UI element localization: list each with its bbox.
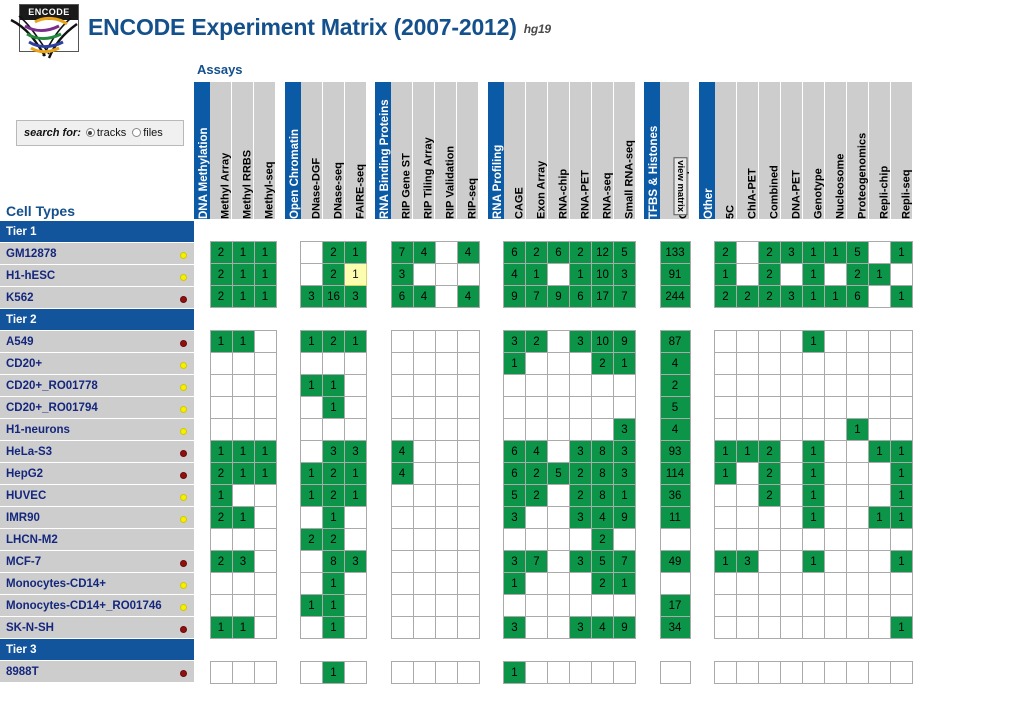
matrix-cell-filled[interactable]: 244 (660, 286, 690, 308)
matrix-cell-empty (413, 331, 435, 353)
matrix-cell-empty (254, 353, 276, 375)
matrix-cell-filled[interactable]: 91 (660, 264, 690, 286)
matrix-cell-filled[interactable]: 1 (254, 441, 276, 463)
matrix-cell-filled[interactable]: 8 (592, 441, 614, 463)
matrix-cell-filled[interactable]: 1 (803, 551, 825, 573)
matrix-cell-filled[interactable]: 1 (345, 242, 367, 264)
matrix-cell-filled[interactable]: 6 (847, 286, 869, 308)
matrix-cell-filled[interactable]: 4 (391, 441, 413, 463)
matrix-cell-filled[interactable]: 3 (614, 419, 636, 441)
matrix-cell-filled[interactable]: 3 (323, 441, 345, 463)
matrix-cell-filled[interactable]: 1 (254, 264, 276, 286)
column-group-header[interactable]: RNA Binding Proteins (375, 82, 391, 219)
matrix-cell-filled[interactable]: 93 (660, 441, 690, 463)
matrix-cell-filled[interactable]: 2 (759, 264, 781, 286)
matrix-cell-filled[interactable]: 1 (254, 463, 276, 485)
matrix-cell-empty (825, 397, 847, 419)
matrix-cell-filled[interactable]: 6 (504, 441, 526, 463)
matrix-cell-filled[interactable]: 4 (504, 264, 526, 286)
matrix-cell-filled[interactable]: 2 (210, 463, 232, 485)
assay-column-header[interactable]: RIP Gene ST (391, 82, 413, 219)
matrix-data-row: 21112146252831141211 (194, 463, 913, 485)
matrix-group-gap-cell (488, 264, 504, 286)
matrix-cell-filled[interactable]: 10 (592, 331, 614, 353)
matrix-cell-filled[interactable]: 1 (891, 507, 913, 529)
view-matrix-button[interactable]: view matrix (674, 157, 688, 215)
matrix-cell-filled[interactable]: 2 (570, 242, 592, 264)
matrix-cell-empty (715, 529, 737, 551)
matrix-cell-empty (232, 529, 254, 551)
matrix-cell-filled[interactable]: 2 (570, 485, 592, 507)
matrix-group-gap-cell (699, 419, 715, 441)
matrix-header-row: DNA MethylationMethyl ArrayMethyl RRBSMe… (194, 82, 913, 219)
matrix-cell-empty (548, 397, 570, 419)
matrix-cell-filled[interactable]: 1 (301, 485, 323, 507)
matrix-cell-filled[interactable]: 7 (614, 551, 636, 573)
cell-type-row[interactable]: A549 (0, 331, 194, 353)
matrix-cell-filled[interactable]: 1 (715, 463, 737, 485)
matrix-cell-filled[interactable]: 2 (715, 242, 737, 264)
matrix-cell-filled[interactable]: 1 (869, 441, 891, 463)
matrix-group-spacer-cell (636, 419, 645, 441)
matrix-group-gap-cell (644, 662, 660, 684)
matrix-cell-filled[interactable]: 1 (232, 286, 254, 308)
matrix-cell-filled[interactable]: 9 (504, 286, 526, 308)
matrix-cell-filled[interactable]: 5 (504, 485, 526, 507)
matrix-cell-filled[interactable]: 5 (847, 242, 869, 264)
matrix-cell-empty (210, 419, 232, 441)
matrix-group-spacer-cell (367, 529, 376, 551)
matrix-cell-empty (457, 331, 479, 353)
cell-type-row[interactable]: 8988T (0, 661, 194, 683)
matrix-cell-filled[interactable]: 87 (660, 331, 690, 353)
matrix-cell-filled[interactable]: 2 (323, 529, 345, 551)
matrix-cell-filled[interactable]: 3 (301, 286, 323, 308)
matrix-cell-filled[interactable]: 7 (526, 286, 548, 308)
cell-type-row[interactable]: H1-hESC (0, 265, 194, 287)
matrix-cell-filled[interactable]: 2 (323, 331, 345, 353)
matrix-cell-empty (413, 419, 435, 441)
matrix-cell-filled[interactable]: 8 (592, 485, 614, 507)
matrix-cell-empty (737, 507, 759, 529)
matrix-cell-filled[interactable]: 2 (210, 286, 232, 308)
matrix-cell-filled[interactable]: 1 (345, 264, 367, 286)
matrix-cell-filled[interactable]: 1 (232, 264, 254, 286)
radio-option-tracks[interactable]: tracks (86, 127, 126, 139)
matrix-cell-filled[interactable]: 2 (592, 529, 614, 551)
matrix-cell-filled[interactable]: 5 (614, 242, 636, 264)
matrix-cell-filled[interactable]: 12 (592, 242, 614, 264)
matrix-cell-filled[interactable]: 1 (504, 662, 526, 684)
assay-column-header[interactable]: FAIRE-seq (345, 82, 367, 219)
assay-column-header[interactable]: Exon Array (526, 82, 548, 219)
matrix-cell-filled[interactable]: 1 (345, 485, 367, 507)
matrix-cell-filled[interactable]: 2 (526, 463, 548, 485)
matrix-cell-filled[interactable]: 1 (232, 331, 254, 353)
matrix-cell-filled[interactable]: 3 (570, 441, 592, 463)
matrix-cell-filled[interactable]: 4 (457, 286, 479, 308)
matrix-cell-filled[interactable]: 1 (891, 286, 913, 308)
assay-column-header[interactable]: DNA-PET (781, 82, 803, 219)
assay-column-header[interactable]: RIP Validation (435, 82, 457, 219)
matrix-group-spacer-cell (479, 617, 488, 639)
cell-type-row[interactable]: Monocytes-CD14+_RO01746 (0, 595, 194, 617)
matrix-cell-filled[interactable]: 1 (891, 617, 913, 639)
matrix-cell-filled[interactable]: 1 (614, 485, 636, 507)
matrix-cell-filled[interactable]: 2 (759, 441, 781, 463)
matrix-cell-filled[interactable]: 1 (232, 242, 254, 264)
matrix-cell-empty (391, 529, 413, 551)
matrix-cell-filled[interactable]: 1 (803, 242, 825, 264)
matrix-group-spacer-cell (479, 507, 488, 529)
matrix-cell-filled[interactable]: 1 (504, 353, 526, 375)
matrix-cell-filled[interactable]: 3 (504, 617, 526, 639)
matrix-cell-filled[interactable]: 1 (715, 441, 737, 463)
matrix-cell-filled[interactable]: 6 (570, 286, 592, 308)
matrix-cell-filled[interactable]: 10 (592, 264, 614, 286)
column-group-header[interactable]: DNA Methylation (194, 82, 210, 219)
matrix-cell-filled[interactable]: 4 (526, 441, 548, 463)
matrix-group-gap-cell (375, 286, 391, 308)
matrix-group-gap-cell (699, 264, 715, 286)
matrix-cell-filled[interactable]: 1 (614, 353, 636, 375)
matrix-cell-filled[interactable]: 3 (781, 286, 803, 308)
matrix-cell-filled[interactable]: 8 (592, 463, 614, 485)
matrix-cell-filled[interactable]: 133 (660, 242, 690, 264)
matrix-cell-filled[interactable]: 2 (323, 463, 345, 485)
matrix-cell-filled[interactable]: 1 (614, 573, 636, 595)
assay-column-header[interactable]: DNase-seq (323, 82, 345, 219)
assay-column-header[interactable]: Nucleosome (825, 82, 847, 219)
matrix-cell-filled[interactable]: 2 (323, 485, 345, 507)
matrix-cell-filled[interactable]: 5 (548, 463, 570, 485)
matrix-cell-filled[interactable]: 3 (232, 551, 254, 573)
matrix-cell-filled[interactable]: 16 (323, 286, 345, 308)
matrix-cell-filled[interactable]: 3 (614, 441, 636, 463)
matrix-cell-filled[interactable]: 3 (345, 551, 367, 573)
matrix-cell-filled[interactable]: 2 (526, 242, 548, 264)
assay-column-header[interactable]: ChIP-seqview matrix (660, 82, 690, 219)
matrix-cell-filled[interactable]: 2 (210, 264, 232, 286)
matrix-cell-filled[interactable]: 2 (759, 485, 781, 507)
matrix-cell-filled[interactable]: 2 (210, 242, 232, 264)
matrix-cell-filled[interactable]: 1 (803, 485, 825, 507)
matrix-cell-filled[interactable]: 2 (759, 286, 781, 308)
cell-type-row[interactable]: HepG2 (0, 463, 194, 485)
matrix-cell-filled[interactable]: 34 (660, 617, 690, 639)
matrix-group-spacer-cell (690, 595, 699, 617)
matrix-group-spacer-cell (367, 419, 376, 441)
matrix-cell-filled[interactable]: 3 (504, 331, 526, 353)
matrix-cell-filled[interactable]: 114 (660, 463, 690, 485)
matrix-cell-empty (781, 419, 803, 441)
assay-column-header[interactable]: Combined (759, 82, 781, 219)
matrix-cell-filled[interactable]: 1 (891, 441, 913, 463)
matrix-cell-filled[interactable]: 1 (891, 551, 913, 573)
matrix-cell-filled[interactable]: 5 (592, 551, 614, 573)
cell-type-row[interactable]: H1-neurons (0, 419, 194, 441)
matrix-cell-filled[interactable]: 2 (210, 507, 232, 529)
matrix-cell-filled[interactable]: 6 (391, 286, 413, 308)
matrix-cell-filled[interactable]: 1 (891, 242, 913, 264)
page-title-text: ENCODE Experiment Matrix (2007-2012) (88, 14, 517, 40)
matrix-cell-filled[interactable]: 2 (847, 264, 869, 286)
radio-tracks-icon[interactable] (86, 128, 95, 137)
assay-column-header[interactable]: RNA-PET (570, 82, 592, 219)
assay-column-header[interactable]: 5C (715, 82, 737, 219)
assay-column-header[interactable]: Small RNA-seq (614, 82, 636, 219)
matrix-cell-filled[interactable]: 2 (526, 331, 548, 353)
assay-column-header[interactable]: CAGE (504, 82, 526, 219)
cell-type-row[interactable]: CD20+ (0, 353, 194, 375)
matrix-group-spacer-cell (367, 397, 376, 419)
matrix-cell-filled[interactable]: 1 (323, 595, 345, 617)
matrix-cell-empty (781, 441, 803, 463)
matrix-cell-filled[interactable]: 2 (323, 242, 345, 264)
matrix-cell-filled[interactable]: 7 (614, 286, 636, 308)
matrix-cell-filled[interactable]: 2 (592, 353, 614, 375)
matrix-cell-filled[interactable]: 1 (254, 286, 276, 308)
cell-type-row[interactable]: CD20+_RO01778 (0, 375, 194, 397)
matrix-cell-filled[interactable]: 1 (301, 331, 323, 353)
matrix-cell-filled[interactable]: 1 (570, 264, 592, 286)
matrix-group-gap-cell (285, 441, 301, 463)
matrix-cell-filled[interactable]: 2 (737, 286, 759, 308)
matrix-cell-filled[interactable]: 1 (323, 617, 345, 639)
matrix-cell-filled[interactable]: 3 (614, 264, 636, 286)
matrix-group-gap-cell (194, 353, 210, 375)
matrix-cell-empty (548, 485, 570, 507)
matrix-cell-filled[interactable]: 3 (570, 617, 592, 639)
assay-column-header[interactable]: Methyl RRBS (232, 82, 254, 219)
matrix-cell-filled[interactable]: 36 (660, 485, 690, 507)
matrix-cell-filled[interactable]: 1 (526, 264, 548, 286)
matrix-cell-filled[interactable]: 4 (660, 419, 690, 441)
matrix-cell-filled[interactable]: 1 (210, 331, 232, 353)
matrix-cell-empty (413, 551, 435, 573)
assay-column-header[interactable]: RNA-seq (592, 82, 614, 219)
matrix-cell-filled[interactable]: 2 (210, 551, 232, 573)
matrix-cell-filled[interactable]: 1 (345, 331, 367, 353)
matrix-cell-filled[interactable]: 1 (891, 463, 913, 485)
matrix-cell-filled[interactable]: 1 (803, 441, 825, 463)
matrix-cell-filled[interactable]: 4 (592, 507, 614, 529)
matrix-cell-filled[interactable]: 9 (614, 617, 636, 639)
matrix-tier-spacer-row (194, 219, 913, 242)
matrix-cell-filled[interactable]: 1 (301, 375, 323, 397)
matrix-cell-filled[interactable]: 1 (210, 485, 232, 507)
matrix-cell-filled[interactable]: 9 (614, 331, 636, 353)
matrix-cell-filled[interactable]: 1 (825, 242, 847, 264)
matrix-cell-filled[interactable]: 3 (614, 463, 636, 485)
matrix-cell-filled[interactable]: 1 (345, 463, 367, 485)
matrix-cell-empty (825, 463, 847, 485)
assay-column-header[interactable]: Repli-seq (891, 82, 913, 219)
matrix-cell-filled[interactable]: 1 (210, 617, 232, 639)
matrix-cell-filled[interactable]: 1 (803, 507, 825, 529)
matrix-cell-filled[interactable]: 3 (570, 331, 592, 353)
matrix-cell-filled[interactable]: 9 (614, 507, 636, 529)
matrix-cell-empty (869, 595, 891, 617)
matrix-cell-filled[interactable]: 3 (781, 242, 803, 264)
matrix-cell-filled[interactable]: 1 (504, 573, 526, 595)
matrix-cell-filled[interactable]: 4 (413, 242, 435, 264)
assay-column-header[interactable]: RIP Tiling Array (413, 82, 435, 219)
assay-column-header[interactable]: Genotype (803, 82, 825, 219)
matrix-cell-filled[interactable]: 8 (323, 551, 345, 573)
matrix-cell-filled[interactable]: 4 (413, 286, 435, 308)
column-group-header[interactable]: Other (699, 82, 715, 219)
matrix-cell-filled[interactable]: 1 (323, 573, 345, 595)
matrix-cell-empty (323, 353, 345, 375)
matrix-group-gap-cell (488, 485, 504, 507)
assay-column-header[interactable]: RIP-seq (457, 82, 479, 219)
matrix-cell-filled[interactable]: 5 (660, 397, 690, 419)
column-group-header[interactable]: TFBS & Histones (644, 82, 660, 219)
matrix-cell-filled[interactable]: 1 (210, 441, 232, 463)
matrix-cell-filled[interactable]: 49 (660, 551, 690, 573)
cell-type-row[interactable]: Monocytes-CD14+ (0, 573, 194, 595)
matrix-cell-empty (781, 617, 803, 639)
cell-type-status-dot (180, 428, 187, 435)
matrix-group-spacer-cell (367, 264, 376, 286)
cell-type-row[interactable]: HeLa-S3 (0, 441, 194, 463)
radio-option-files[interactable]: files (132, 127, 163, 139)
matrix-group-spacer-cell (367, 441, 376, 463)
matrix-cell-filled[interactable]: 3 (504, 507, 526, 529)
matrix-cell-filled[interactable]: 2 (301, 529, 323, 551)
matrix-cell-filled[interactable]: 17 (592, 286, 614, 308)
matrix-group-gap-cell (194, 573, 210, 595)
matrix-cell-filled[interactable]: 1 (803, 331, 825, 353)
matrix-cell-filled[interactable]: 1 (803, 463, 825, 485)
matrix-cell-filled[interactable]: 2 (592, 573, 614, 595)
matrix-cell-filled[interactable]: 3 (345, 441, 367, 463)
assay-column-header[interactable]: ChIA-PET (737, 82, 759, 219)
matrix-cell-filled[interactable]: 1 (301, 595, 323, 617)
matrix-cell-filled[interactable]: 2 (323, 264, 345, 286)
matrix-cell-filled[interactable]: 7 (391, 242, 413, 264)
matrix-cell-empty (457, 595, 479, 617)
encode-matrix-page: ENCODE ENCODE Experiment Matrix (2007-20… (0, 0, 1036, 705)
matrix-cell-filled[interactable]: 1 (891, 485, 913, 507)
matrix-cell-empty (869, 662, 891, 684)
matrix-cell-filled[interactable]: 1 (737, 441, 759, 463)
matrix-cell-empty (254, 595, 276, 617)
matrix-cell-filled[interactable]: 6 (504, 463, 526, 485)
matrix-cell-filled[interactable]: 1 (715, 264, 737, 286)
matrix-cell-filled[interactable]: 3 (504, 551, 526, 573)
matrix-cell-filled[interactable]: 1 (323, 662, 345, 684)
matrix-cell-filled[interactable]: 2 (759, 242, 781, 264)
matrix-tier-spacer-row (194, 639, 913, 662)
search-for-label: search for: (24, 127, 81, 139)
matrix-cell-empty (847, 507, 869, 529)
matrix-group-gap-cell (375, 353, 391, 375)
matrix-cell-filled[interactable]: 1 (232, 441, 254, 463)
matrix-group-spacer-cell (690, 331, 699, 353)
radio-files-icon[interactable] (132, 128, 141, 137)
matrix-cell-empty (548, 529, 570, 551)
matrix-cell-filled[interactable]: 1 (803, 264, 825, 286)
matrix-cell-filled[interactable]: 1 (323, 375, 345, 397)
column-group-header[interactable]: Open Chromatin (285, 82, 301, 219)
column-group-header[interactable]: RNA Profiling (488, 82, 504, 219)
cell-type-row[interactable]: IMR90 (0, 507, 194, 529)
cell-type-row[interactable]: SK-N-SH (0, 617, 194, 639)
assay-column-header[interactable]: Methyl Array (210, 82, 232, 219)
assay-column-header[interactable]: RNA-chip (548, 82, 570, 219)
matrix-cell-filled[interactable]: 1 (254, 242, 276, 264)
matrix-cell-filled[interactable]: 6 (504, 242, 526, 264)
matrix-cell-filled[interactable]: 2 (660, 375, 690, 397)
matrix-cell-filled[interactable]: 9 (548, 286, 570, 308)
matrix-cell-filled[interactable]: 3 (570, 507, 592, 529)
cell-type-row[interactable]: HUVEC (0, 485, 194, 507)
matrix-cell-empty (504, 419, 526, 441)
matrix-cell-filled[interactable]: 11 (660, 507, 690, 529)
matrix-cell-filled[interactable]: 3 (391, 264, 413, 286)
matrix-cell-filled[interactable]: 4 (391, 463, 413, 485)
cell-type-row[interactable]: K562 (0, 287, 194, 309)
matrix-cell-filled[interactable]: 1 (232, 507, 254, 529)
matrix-cell-empty (435, 529, 457, 551)
matrix-cell-filled[interactable]: 17 (660, 595, 690, 617)
matrix-group-spacer-cell (276, 662, 285, 684)
cell-type-row[interactable]: GM12878 (0, 243, 194, 265)
cell-type-row[interactable]: MCF-7 (0, 551, 194, 573)
cell-type-row[interactable]: CD20+_RO01794 (0, 397, 194, 419)
assay-column-header[interactable]: Proteogenomics (847, 82, 869, 219)
encode-logo: ENCODE (5, 4, 83, 56)
matrix-cell-filled[interactable]: 1 (232, 463, 254, 485)
matrix-cell-filled[interactable]: 3 (737, 551, 759, 573)
matrix-cell-empty (737, 595, 759, 617)
cell-type-row[interactable]: LHCN-M2 (0, 529, 194, 551)
matrix-cell-filled[interactable]: 2 (526, 485, 548, 507)
matrix-cell-filled[interactable]: 4 (457, 242, 479, 264)
matrix-cell-filled[interactable]: 1 (869, 507, 891, 529)
matrix-cell-filled[interactable]: 2 (759, 463, 781, 485)
matrix-cell-filled[interactable]: 2 (570, 463, 592, 485)
assay-column-header[interactable]: Methyl-seq (254, 82, 276, 219)
matrix-cell-filled[interactable]: 1 (847, 419, 869, 441)
matrix-cell-filled[interactable]: 1 (323, 507, 345, 529)
matrix-group-gap-cell (644, 353, 660, 375)
matrix-cell-filled[interactable]: 1 (803, 286, 825, 308)
matrix-cell-filled[interactable]: 6 (548, 242, 570, 264)
matrix-cell-filled[interactable]: 3 (345, 286, 367, 308)
matrix-cell-filled[interactable]: 1 (715, 551, 737, 573)
matrix-cell-filled[interactable]: 3 (570, 551, 592, 573)
matrix-group-gap-cell (194, 617, 210, 639)
matrix-cell-filled[interactable]: 1 (232, 617, 254, 639)
matrix-cell-filled[interactable]: 7 (526, 551, 548, 573)
matrix-cell-filled[interactable]: 2 (715, 286, 737, 308)
assay-column-header[interactable]: DNase-DGF (301, 82, 323, 219)
matrix-cell-empty (592, 595, 614, 617)
matrix-cell-filled[interactable]: 1 (825, 286, 847, 308)
matrix-cell-filled[interactable]: 4 (592, 617, 614, 639)
search-for-box[interactable]: search for: tracks files (16, 120, 184, 146)
matrix-group-spacer-cell (479, 595, 488, 617)
assay-column-header[interactable]: Repli-chip (869, 82, 891, 219)
matrix-cell-empty (847, 529, 869, 551)
matrix-cell-filled[interactable]: 4 (660, 353, 690, 375)
matrix-cell-filled[interactable]: 1 (301, 463, 323, 485)
matrix-cell-filled[interactable]: 1 (323, 397, 345, 419)
matrix-cell-filled[interactable]: 1 (869, 264, 891, 286)
